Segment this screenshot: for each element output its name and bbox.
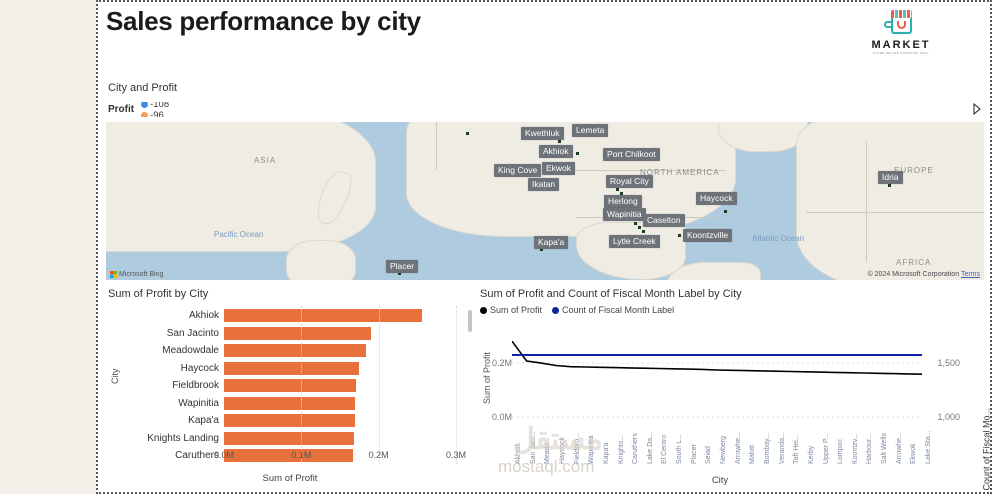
terms-link[interactable]: Terms <box>961 271 980 278</box>
line-chart-x-tick: El Centro <box>661 435 668 464</box>
line-chart-y-axis-label: Sum of Profit <box>482 352 492 404</box>
ocean-label-atlantic: Atlantic Ocean <box>752 234 804 243</box>
bar-track <box>224 362 474 375</box>
map-city-label[interactable]: Placer <box>386 260 418 273</box>
map-data-pin[interactable] <box>638 226 641 229</box>
map-city-label[interactable]: Port Chilkoot <box>603 148 660 161</box>
bar-chart-row[interactable]: Meadowdale <box>116 343 474 358</box>
line-chart-x-tick: Arrowhe... <box>735 432 742 464</box>
legend-text: Sum of Profit <box>490 305 542 315</box>
chevron-right-icon[interactable] <box>972 103 982 115</box>
line-chart-y2-axis-label: Count of Fiscal Mo... <box>982 408 992 491</box>
landmass-north-america <box>406 122 736 237</box>
line-chart-title: Sum of Profit and Count of Fiscal Month … <box>478 286 984 300</box>
map-legend[interactable]: Profit -645-525-516-472.5-420-367.5-322.… <box>106 102 984 117</box>
bar-fill[interactable] <box>224 344 366 357</box>
line-chart-x-tick: Harbour... <box>866 433 873 464</box>
ocean-label-pacific: Pacific Ocean <box>214 230 263 239</box>
line-chart-x-tick: Knights... <box>618 435 625 464</box>
map-data-pin[interactable] <box>888 184 891 187</box>
map-copyright: © 2024 Microsoft Corporation Terms <box>868 271 980 278</box>
bar-x-tick: 0.3M <box>446 450 466 460</box>
map-city-label[interactable]: Idria <box>878 171 903 184</box>
microsoft-logo-icon <box>110 271 117 278</box>
bar-track <box>224 432 474 445</box>
brand-tagline: STORE ONLINE SHOPPING MALL <box>873 52 930 55</box>
map-data-pin[interactable] <box>634 222 637 225</box>
bar-chart-row[interactable]: Haycock <box>116 361 474 376</box>
map-visual[interactable]: City and Profit Profit -645-525-516-472.… <box>106 82 984 280</box>
page-background-strip <box>0 0 96 494</box>
bar-category-label: Wapinitia <box>116 398 224 409</box>
line-chart-y2tick: 1,000 <box>937 412 960 422</box>
line-chart-x-tick: Seiad <box>705 446 712 464</box>
map-city-label[interactable]: Haycock <box>696 192 737 205</box>
map-canvas[interactable]: Pacific Ocean Atlantic Ocean ASIA NORTH … <box>106 122 984 280</box>
line-chart-x-tick: Lake Sta... <box>925 431 932 464</box>
bar-track <box>224 414 474 427</box>
map-city-label[interactable]: Kwethluk <box>521 127 564 140</box>
bar-gridline <box>456 306 457 464</box>
legend-item[interactable]: -108 <box>141 102 177 110</box>
report-canvas: Sales performance by city MARKET STORE O… <box>96 0 992 494</box>
bar-chart-title: Sum of Profit by City <box>106 286 474 300</box>
map-border-line <box>436 122 437 170</box>
bar-category-label: Akhiok <box>116 310 224 321</box>
bar-fill[interactable] <box>224 327 371 340</box>
bar-chart-plot: City AkhiokSan JacintoMeadowdaleHaycockF… <box>106 306 474 490</box>
map-legend-title: Profit <box>108 104 134 115</box>
bar-chart-row[interactable]: Knights Landing <box>116 431 474 446</box>
bar-category-label: Fieldbrook <box>116 380 224 391</box>
legend-dot-icon <box>141 102 148 108</box>
map-border-line <box>806 212 984 213</box>
bar-gridline <box>379 306 380 464</box>
map-city-label[interactable]: Kapa'a <box>534 236 568 249</box>
bar-chart-x-axis-label: Sum of Profit <box>106 473 474 484</box>
bar-category-label: Caruthers <box>116 450 224 461</box>
line-chart-plot <box>512 334 922 418</box>
copyright-text: © 2024 Microsoft Corporation <box>868 271 960 278</box>
map-data-pin[interactable] <box>616 188 619 191</box>
legend-text: Count of Fiscal Month Label <box>562 305 674 315</box>
line-chart-x-tick: Koontzv... <box>852 433 859 464</box>
bar-fill[interactable] <box>224 362 359 375</box>
line-chart-legend[interactable]: Sum of Profit Count of Fiscal Month Labe… <box>480 305 984 315</box>
line-chart-x-tick: Taft Hei... <box>793 434 800 464</box>
map-data-pin[interactable] <box>466 132 469 135</box>
map-city-label[interactable]: Caselton <box>643 214 685 227</box>
line-chart-x-tick: Placer <box>691 444 698 464</box>
line-chart-x-tick: Kapa'a <box>603 442 610 464</box>
legend-item-sum-of-profit[interactable]: Sum of Profit <box>480 305 542 315</box>
map-data-pin[interactable] <box>642 230 645 233</box>
page-title: Sales performance by city <box>106 6 421 37</box>
map-city-label[interactable]: King Cove <box>494 164 541 177</box>
line-chart-ytick: 0.2M <box>492 358 512 368</box>
line-chart-ytick: 0.0M <box>492 412 512 422</box>
bar-chart-row[interactable]: Akhiok <box>116 308 474 323</box>
map-city-label[interactable]: Ikatan <box>528 178 559 191</box>
bar-track <box>224 379 474 392</box>
bar-fill[interactable] <box>224 414 355 427</box>
legend-dot-icon <box>552 307 559 314</box>
brand-wordmark: MARKET <box>871 39 930 51</box>
region-label-asia: ASIA <box>254 156 276 165</box>
bar-x-tick: 0.2M <box>369 450 389 460</box>
legend-item[interactable]: -96 <box>141 110 177 118</box>
bar-category-label: San Jacinto <box>116 328 224 339</box>
landmass-australia-ne <box>286 240 356 280</box>
bar-fill[interactable] <box>224 309 422 322</box>
bar-fill[interactable] <box>224 432 354 445</box>
shop-hook-shape <box>884 21 893 28</box>
bar-category-label: Knights Landing <box>116 433 224 444</box>
map-city-label[interactable]: Herlong <box>604 195 642 208</box>
bar-track <box>224 327 474 340</box>
bar-category-label: Kapa'a <box>116 415 224 426</box>
legend-value: -108 <box>150 102 169 110</box>
bar-chart-x-axis: 0.0M0.1M0.2M0.3M <box>224 450 466 464</box>
map-city-label[interactable]: Koontzville <box>683 229 732 242</box>
legend-item-count-fiscal-month[interactable]: Count of Fiscal Month Label <box>552 305 674 315</box>
map-data-pin[interactable] <box>558 140 561 143</box>
map-city-label[interactable]: Lytle Creek <box>609 235 660 248</box>
map-city-label[interactable]: Akhiok <box>539 145 573 158</box>
bar-track <box>224 309 474 322</box>
line-chart-x-tick: Lompoc <box>837 439 844 464</box>
bar-chart-visual[interactable]: Sum of Profit by City City AkhiokSan Jac… <box>106 286 474 490</box>
bing-credit-text: Microsoft Bing <box>119 271 163 278</box>
map-border-line <box>866 142 867 262</box>
map-city-label[interactable]: Royal City <box>606 175 653 188</box>
region-label-africa: AFRICA <box>896 258 931 267</box>
bar-x-tick: 0.1M <box>291 450 311 460</box>
line-series-sum-of-profit <box>512 341 922 374</box>
bar-gridline <box>301 306 302 464</box>
line-chart-x-tick: Bombay... <box>764 433 771 464</box>
bar-fill[interactable] <box>224 379 356 392</box>
map-city-label[interactable]: Wapinitia <box>603 208 646 221</box>
storefront-icon <box>884 10 918 38</box>
legend-value: -96 <box>150 110 164 118</box>
bar-track <box>224 344 474 357</box>
line-chart-x-tick: Kerby <box>808 446 815 464</box>
line-chart-x-tick: South L... <box>676 434 683 464</box>
map-city-label[interactable]: Lemeta <box>572 124 608 137</box>
bar-chart-row[interactable]: San Jacinto <box>116 326 474 341</box>
line-chart-y2tick: 1,500 <box>937 358 960 368</box>
bar-category-label: Haycock <box>116 363 224 374</box>
bar-chart-row[interactable]: Kapa'a <box>116 413 474 428</box>
line-chart-x-tick: Newberg <box>720 436 727 464</box>
line-chart-x-tick: Veranda... <box>779 432 786 464</box>
bar-chart-row[interactable]: Wapinitia <box>116 396 474 411</box>
bar-category-label: Meadowdale <box>116 345 224 356</box>
map-visual-title: City and Profit <box>106 82 984 94</box>
brand-logo: MARKET STORE ONLINE SHOPPING MALL <box>868 10 934 60</box>
line-chart-x-tick: Ekwok <box>910 443 917 464</box>
landmass-africa-europe <box>796 122 984 280</box>
bing-attribution: Microsoft Bing <box>110 271 163 278</box>
line-chart-x-tick: Lake Da... <box>647 432 654 464</box>
line-chart-x-tick: Salt Wells <box>881 433 888 464</box>
bar-chart-row[interactable]: Fieldbrook <box>116 378 474 393</box>
map-data-pin[interactable] <box>724 210 727 213</box>
watermark-latin: mostaql.com <box>498 457 594 477</box>
line-chart-x-tick: Malott <box>749 445 756 464</box>
bar-fill[interactable] <box>224 397 355 410</box>
bar-x-tick: 0.0M <box>214 450 234 460</box>
legend-dot-icon <box>480 307 487 314</box>
line-chart-x-tick: Arrowhe... <box>896 432 903 464</box>
landmass-central-america <box>576 222 686 280</box>
map-data-pin[interactable] <box>576 152 579 155</box>
line-chart-x-tick: Caruthers <box>632 433 639 464</box>
bar-track <box>224 397 474 410</box>
map-city-label[interactable]: Ekwok <box>542 162 575 175</box>
line-chart-x-tick: Upper P... <box>823 433 830 464</box>
map-data-pin[interactable] <box>678 234 681 237</box>
awning-shape <box>891 10 912 18</box>
legend-dot-icon <box>141 112 148 118</box>
